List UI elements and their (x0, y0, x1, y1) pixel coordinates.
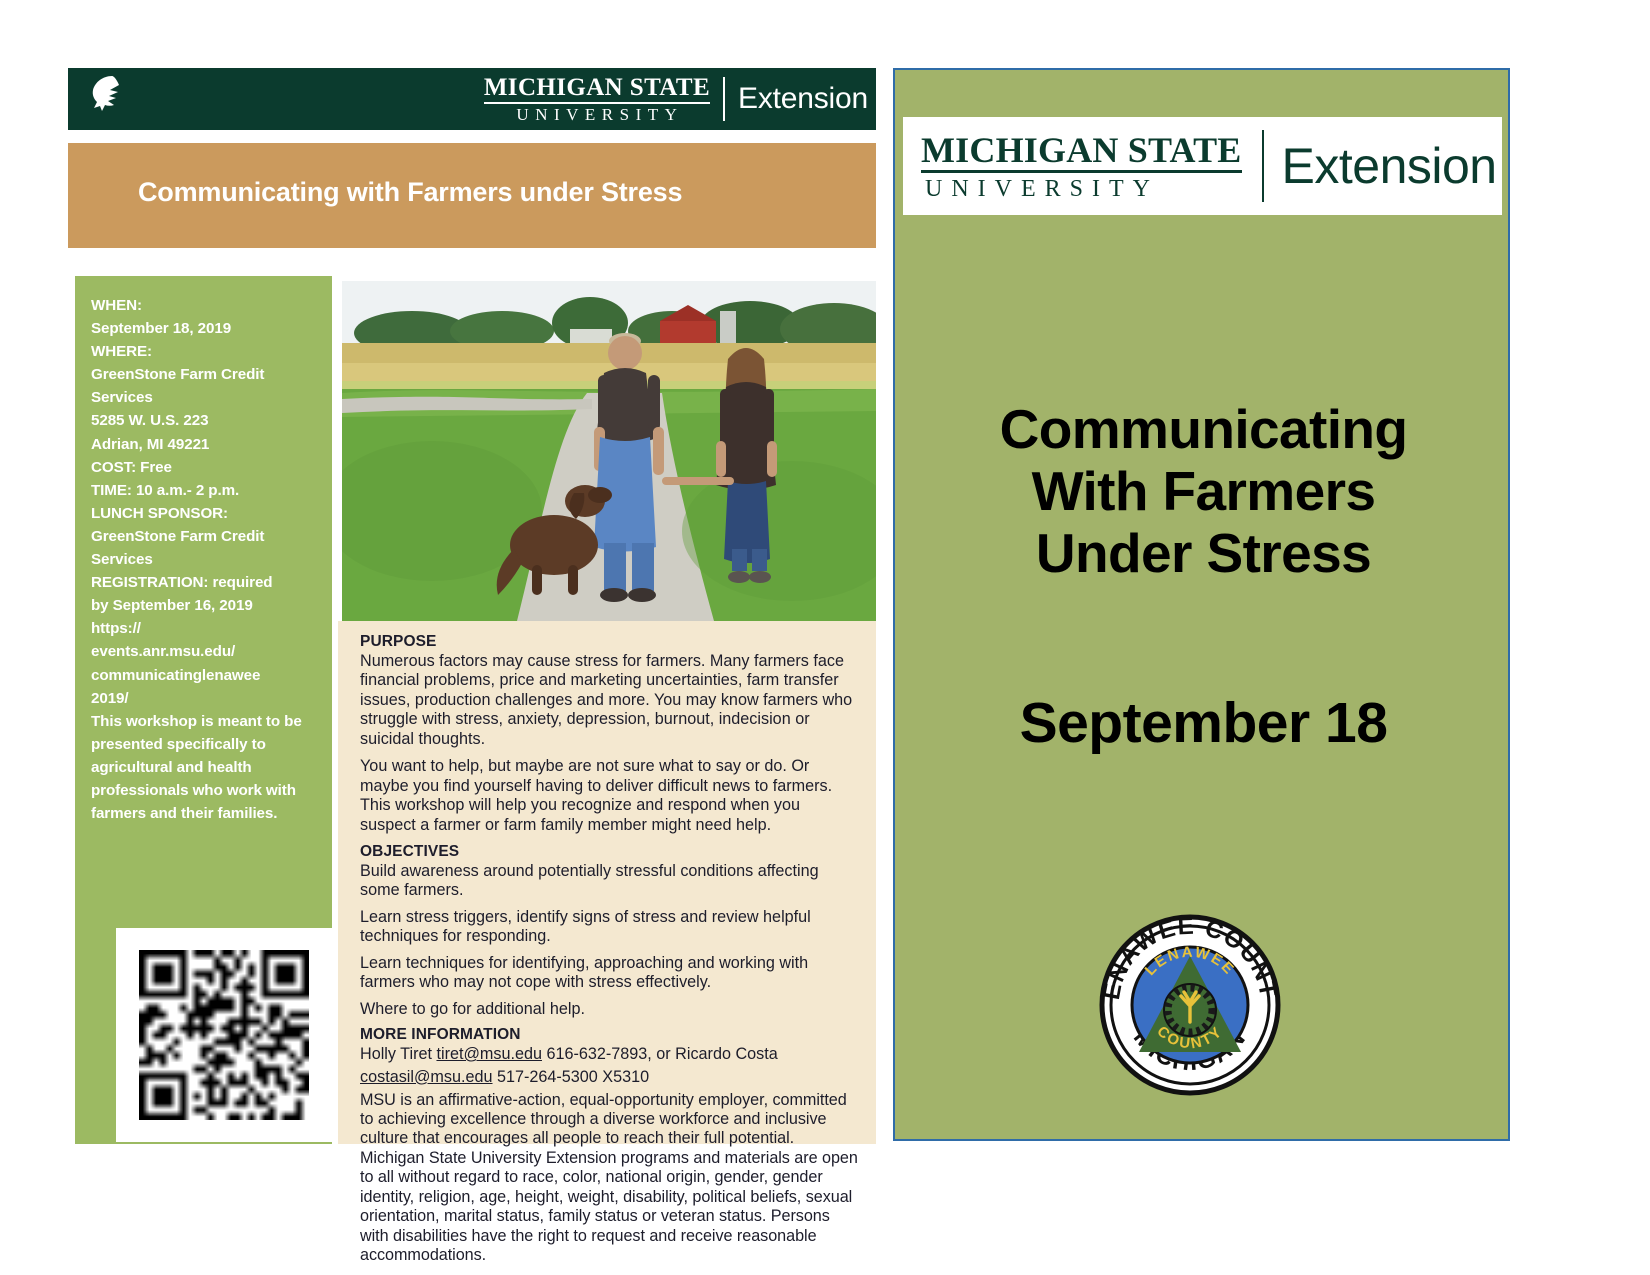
flyer-body: PURPOSE Numerous factors may cause stres… (338, 621, 876, 1144)
photo-illustration (342, 281, 876, 621)
detail-line: LUNCH SPONSOR: (91, 502, 318, 525)
registration-url-line[interactable]: 2019/ (91, 687, 318, 710)
lenawee-county-seal: LENAWEE COUNTY MICHIGAN LENAWEE COUNTY (1095, 910, 1285, 1100)
cover-msu-extension-logo: MICHIGAN STATE UNIVERSITY Extension (903, 117, 1502, 215)
detail-line: REGISTRATION: required (91, 571, 318, 594)
more-information-heading: MORE INFORMATION (360, 1026, 860, 1044)
registration-url-line[interactable]: events.anr.msu.edu/ (91, 640, 318, 663)
detail-line: September 18, 2019 (91, 317, 318, 340)
contact-email-link[interactable]: costasil@msu.edu (360, 1068, 493, 1086)
objectives-heading: OBJECTIVES (360, 843, 860, 861)
objective-item: Learn stress triggers, identify signs of… (360, 908, 860, 947)
event-details-sidebar: WHEN: September 18, 2019 WHERE: GreenSto… (75, 276, 332, 1144)
brand-extension: Extension (738, 82, 868, 116)
detail-line: WHEN: (91, 294, 318, 317)
cover-title: Communicating With Farmers Under Stress (895, 398, 1512, 584)
brand-university: UNIVERSITY (484, 104, 710, 123)
contact-line-2: costasil@msu.edu 517-264-5300 X5310 (360, 1068, 860, 1088)
contact-phone: 517-264-5300 X5310 (493, 1068, 650, 1086)
purpose-paragraph-2: You want to help, but maybe are not sure… (360, 757, 860, 835)
contact-line-1: Holly Tiret tiret@msu.edu 616-632-7893, … (360, 1045, 860, 1065)
detail-line: WHERE: (91, 340, 318, 363)
detail-line: COST: Free (91, 456, 318, 479)
detail-line: Services (91, 548, 318, 571)
objective-item: Build awareness around potentially stres… (360, 862, 860, 901)
qr-code-image (139, 950, 309, 1120)
objective-item: Where to go for additional help. (360, 1000, 860, 1019)
flyer-title: Communicating with Farmers under Stress (138, 177, 682, 208)
brand-michigan-state: MICHIGAN STATE (484, 75, 710, 104)
farm-couple-photo (342, 281, 876, 621)
contact-phone: 616-632-7893, or Ricardo Costa (542, 1045, 778, 1063)
objective-item: Learn techniques for identifying, approa… (360, 954, 860, 993)
cover-title-line-1: Communicating (895, 398, 1512, 460)
flyer-page: MICHIGAN STATE UNIVERSITY Extension Comm… (68, 68, 876, 1143)
registration-url-line[interactable]: communicatinglenawee (91, 664, 318, 687)
registration-url-line[interactable]: https:// (91, 617, 318, 640)
eeo-disclaimer: MSU is an affirmative-action, equal-oppo… (360, 1091, 860, 1266)
detail-line: Services (91, 386, 318, 409)
event-details-list: WHEN: September 18, 2019 WHERE: GreenSto… (75, 276, 332, 825)
contact-email-link[interactable]: tiret@msu.edu (436, 1045, 542, 1063)
msu-extension-logo: MICHIGAN STATE UNIVERSITY Extension (484, 74, 868, 124)
flyer-title-band: Communicating with Farmers under Stress (68, 143, 876, 248)
registration-qr-code[interactable] (116, 928, 332, 1142)
cover-title-line-2: With Farmers (895, 460, 1512, 522)
detail-line: by September 16, 2019 (91, 594, 318, 617)
purpose-paragraph-1: Numerous factors may cause stress for fa… (360, 652, 860, 749)
cover-brand-extension: Extension (1282, 137, 1497, 195)
detail-line: 5285 W. U.S. 223 (91, 409, 318, 432)
msu-header-bar: MICHIGAN STATE UNIVERSITY Extension (68, 68, 876, 130)
cover-date: September 18 (895, 690, 1512, 756)
cover-brand-michigan-state: MICHIGAN STATE (921, 132, 1242, 173)
detail-line: TIME: 10 a.m.- 2 p.m. (91, 479, 318, 502)
logo-divider (723, 77, 725, 121)
detail-line: GreenStone Farm Credit (91, 363, 318, 386)
spartan-helmet-icon (82, 74, 124, 122)
contact-name: Holly Tiret (360, 1045, 436, 1063)
cover-title-line-3: Under Stress (895, 522, 1512, 584)
detail-line: GreenStone Farm Credit (91, 525, 318, 548)
detail-line: Adrian, MI 49221 (91, 433, 318, 456)
cover-brand-university: UNIVERSITY (921, 173, 1242, 201)
purpose-heading: PURPOSE (360, 633, 860, 651)
audience-note: This workshop is meant to be presented s… (91, 710, 318, 825)
cover-logo-divider (1262, 130, 1264, 202)
